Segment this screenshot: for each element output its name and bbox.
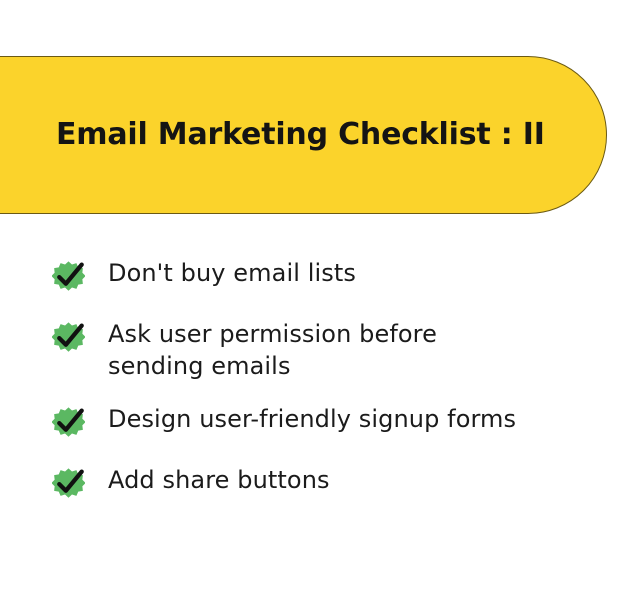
list-item[interactable]: Ask user permission before sending email… bbox=[0, 319, 624, 382]
page-title: Email Marketing Checklist : II bbox=[56, 120, 545, 150]
checklist: Don't buy email lists Ask user permissio… bbox=[0, 258, 624, 500]
green-starburst-check-icon bbox=[52, 321, 85, 354]
list-item[interactable]: Design user-friendly signup forms bbox=[0, 404, 624, 439]
list-item-label: Ask user permission before sending email… bbox=[108, 319, 437, 382]
list-item[interactable]: Don't buy email lists bbox=[0, 258, 624, 293]
header-banner: Email Marketing Checklist : II bbox=[0, 56, 607, 214]
green-starburst-check-icon bbox=[52, 467, 85, 500]
list-item-label: Design user-friendly signup forms bbox=[108, 404, 516, 436]
list-item[interactable]: Add share buttons bbox=[0, 465, 624, 500]
list-item-label: Add share buttons bbox=[108, 465, 330, 497]
green-starburst-check-icon bbox=[52, 406, 85, 439]
list-item-label: Don't buy email lists bbox=[108, 258, 356, 290]
green-starburst-check-icon bbox=[52, 260, 85, 293]
